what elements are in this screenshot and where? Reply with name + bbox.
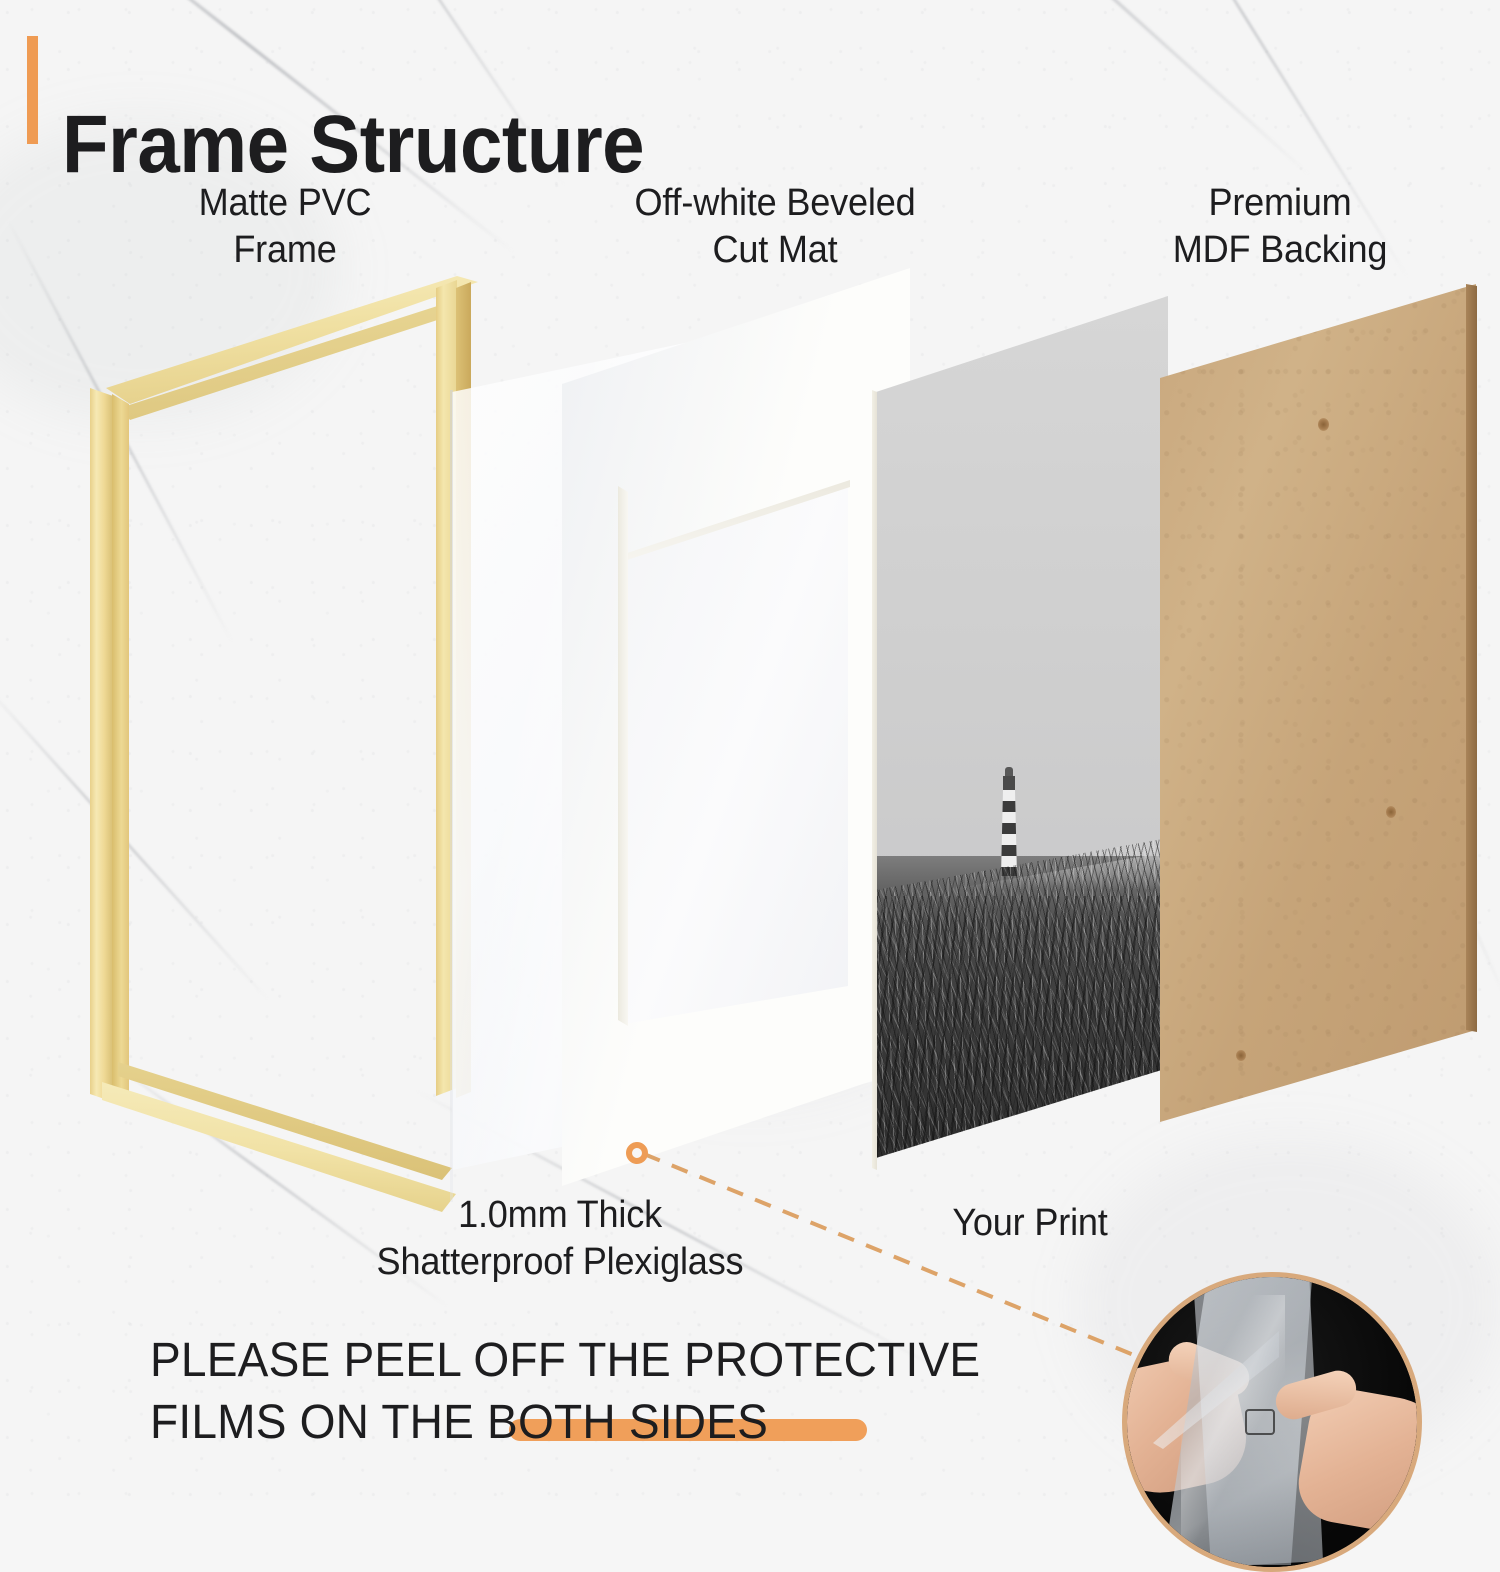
photo-grass-foreground — [876, 896, 1168, 1158]
caption-line2-prefix: FILMS ON THE — [150, 1396, 487, 1449]
frame-bottom-rail-inner — [118, 1062, 466, 1186]
layer-print — [876, 296, 1168, 1158]
mat-bevel-left — [618, 486, 628, 1026]
label-pvc-frame-line1: Matte PVC — [199, 182, 372, 224]
caption-line2-highlight: BOTH SIDES — [487, 1396, 768, 1449]
lighthouse-icon — [998, 764, 1020, 876]
label-cut-mat-line2: Cut Mat — [712, 229, 837, 271]
print-photo — [876, 296, 1168, 1158]
label-mdf-backing: Premium MDF Backing — [1090, 180, 1470, 274]
callout-marker-dot — [626, 1142, 648, 1164]
frame-left-rail-inner — [112, 394, 129, 1100]
caption-line2: FILMS ON THE BOTH SIDES — [150, 1392, 1072, 1454]
layer-mdf-backing — [1160, 284, 1476, 1122]
mat-window-opening — [624, 486, 848, 1024]
mdf-edge — [1466, 284, 1477, 1122]
label-mdf-backing-line1: Premium — [1208, 182, 1351, 224]
mdf-knot — [1236, 1050, 1246, 1061]
frame-left-rail — [90, 388, 113, 1102]
frame-top-rail — [106, 276, 478, 404]
mdf-knot — [1318, 418, 1329, 431]
title-accent-bar — [27, 36, 38, 144]
layer-cut-mat — [562, 268, 910, 1186]
protective-film-peel-photo — [1122, 1272, 1422, 1572]
caption-line1: PLEASE PEEL OFF THE PROTECTIVE — [150, 1330, 1072, 1392]
film-logo-icon — [1245, 1409, 1275, 1435]
print-left-edge — [872, 390, 877, 1170]
photo-sky — [876, 296, 1168, 936]
bottom-caption: PLEASE PEEL OFF THE PROTECTIVE FILMS ON … — [150, 1330, 1072, 1454]
lighthouse-lamp — [1003, 776, 1015, 791]
mdf-knot — [1386, 806, 1396, 818]
lighthouse-tower — [1001, 790, 1017, 876]
label-cut-mat-line1: Off-white Beveled — [634, 182, 915, 224]
label-mdf-backing-line2: MDF Backing — [1173, 229, 1388, 271]
mdf-texture — [1160, 284, 1476, 1122]
frame-top-rail-inner — [120, 298, 472, 420]
layer-pvc-frame — [84, 262, 474, 1142]
label-cut-mat: Off-white Beveled Cut Mat — [552, 180, 999, 274]
plexiglass-edge — [450, 390, 453, 1202]
label-pvc-frame-line2: Frame — [233, 229, 336, 271]
label-pvc-frame: Matte PVC Frame — [105, 180, 466, 274]
